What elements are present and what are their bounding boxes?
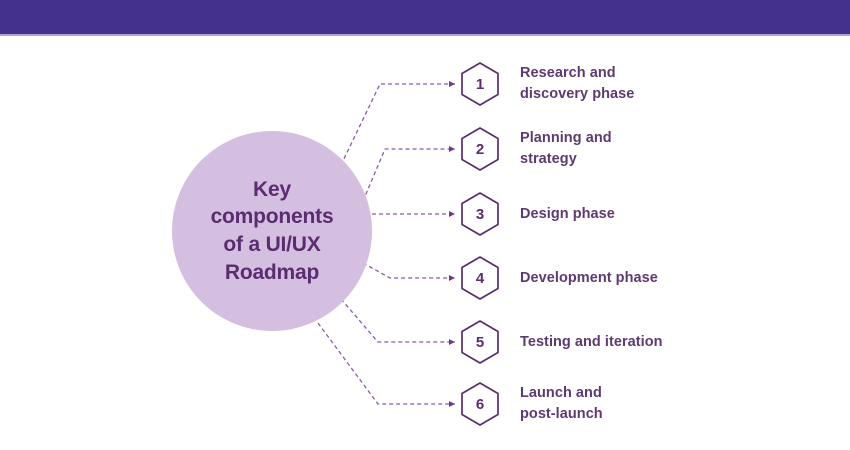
hexagon-number-5: 5: [458, 319, 502, 365]
header-bar: [0, 0, 850, 34]
connector-1: [341, 84, 455, 165]
center-circle-label: Key components of a UI/UX Roadmap: [197, 176, 348, 287]
center-circle: Key components of a UI/UX Roadmap: [172, 131, 372, 331]
hexagon-badge-2: 2: [458, 126, 502, 172]
step-label-2: Planning and strategy: [520, 128, 612, 169]
roadmap-diagram: Key components of a UI/UX Roadmap 1 Rese…: [0, 36, 850, 450]
hexagon-number-6: 6: [458, 381, 502, 427]
connector-2: [363, 149, 455, 201]
hexagon-badge-4: 4: [458, 255, 502, 301]
step-label-1: Research and discovery phase: [520, 63, 634, 104]
step-item-5[interactable]: 5 Testing and iteration: [458, 318, 663, 366]
hexagon-badge-5: 5: [458, 319, 502, 365]
step-label-3: Design phase: [520, 204, 615, 225]
connector-5: [341, 299, 455, 342]
hexagon-number-1: 1: [458, 61, 502, 107]
step-item-6[interactable]: 6 Launch and post-launch: [458, 380, 603, 428]
hexagon-badge-1: 1: [458, 61, 502, 107]
hexagon-number-3: 3: [458, 191, 502, 237]
step-item-4[interactable]: 4 Development phase: [458, 254, 658, 302]
step-label-5: Testing and iteration: [520, 332, 663, 353]
step-label-6: Launch and post-launch: [520, 383, 603, 424]
hexagon-number-2: 2: [458, 126, 502, 172]
hexagon-badge-6: 6: [458, 381, 502, 427]
step-item-2[interactable]: 2 Planning and strategy: [458, 125, 612, 173]
hexagon-badge-3: 3: [458, 191, 502, 237]
connector-4: [363, 263, 455, 278]
step-item-3[interactable]: 3 Design phase: [458, 190, 615, 238]
hexagon-number-4: 4: [458, 255, 502, 301]
step-label-4: Development phase: [520, 268, 658, 289]
step-item-1[interactable]: 1 Research and discovery phase: [458, 60, 634, 108]
connector-layer: [0, 36, 850, 450]
connector-6: [318, 323, 455, 404]
